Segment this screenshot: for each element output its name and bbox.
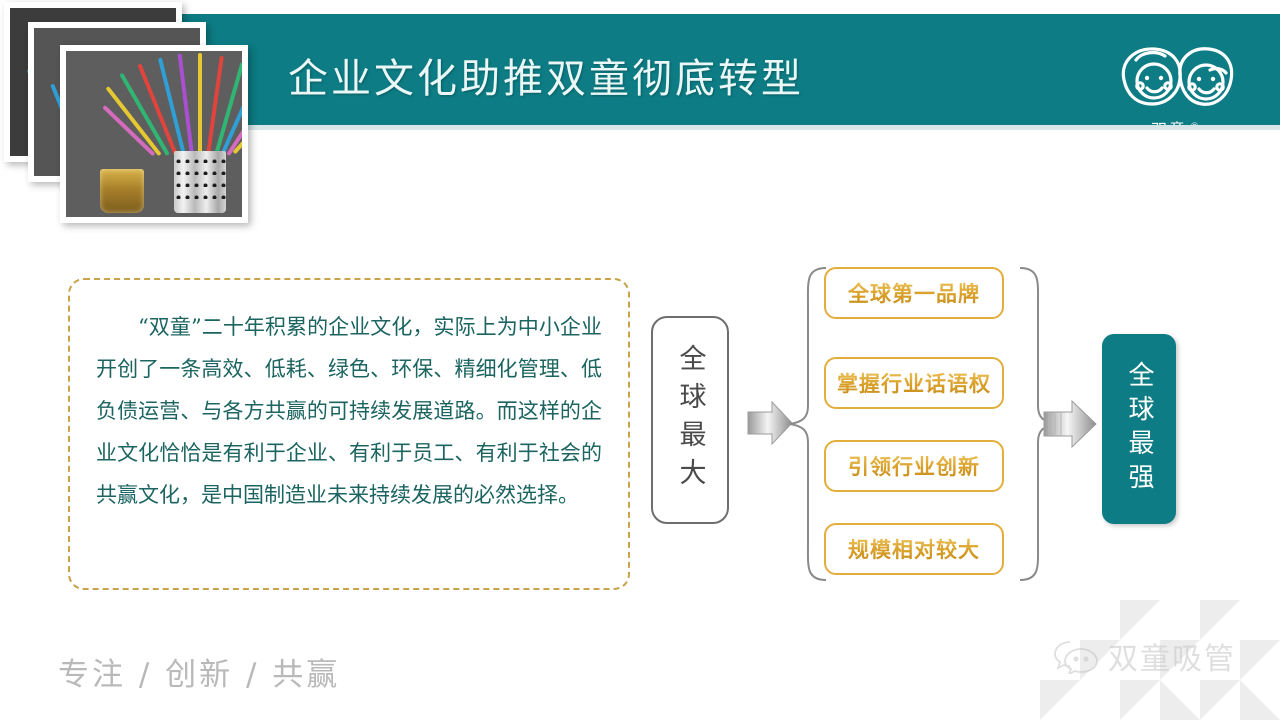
diagram-source-label: 全球最大 [677, 344, 704, 496]
footer-watermark: 双童吸管 [970, 600, 1280, 722]
diagram-item-label-4: 规模相对较大 [848, 534, 980, 564]
diagram-target-label: 全球最强 [1126, 361, 1152, 497]
diagram-item-label-1: 全球第一品牌 [848, 278, 980, 308]
diagram-item-box-3[interactable]: 引领行业创新 [824, 440, 1004, 492]
body-paragraph: “双童”二十年积累的企业文化，实际上为中小企业开创了一条高效、低耗、绿色、环保、… [96, 306, 602, 516]
page-title: 企业文化助推双童彻底转型 [288, 46, 804, 104]
diagram-source-node[interactable]: 全球最大 [651, 316, 729, 524]
body-text-card: “双童”二十年积累的企业文化，实际上为中小企业开创了一条高效、低耗、绿色、环保、… [68, 278, 630, 590]
header-bar: 企业文化助推双童彻底转型 [180, 14, 1280, 125]
wechat-icon [1054, 638, 1098, 674]
diagram-item-box-4[interactable]: 规模相对较大 [824, 523, 1004, 575]
diagram-item-box-2[interactable]: 掌握行业话语权 [824, 357, 1004, 409]
diagram-item-label-3: 引领行业创新 [848, 451, 980, 481]
watermark-row: 双童吸管 [1054, 634, 1236, 678]
footer-slogan: 专注 / 创新 / 共赢 [58, 649, 340, 694]
watermark-text: 双童吸管 [1108, 634, 1236, 678]
two-children-faces-logo-icon [1110, 40, 1242, 124]
diagram-item-box-1[interactable]: 全球第一品牌 [824, 267, 1004, 319]
header-underline [180, 125, 1280, 130]
diagram-target-node[interactable]: 全球最强 [1102, 334, 1176, 524]
photo-stack-front [60, 45, 248, 223]
arrow-group-to-target-icon [1042, 398, 1104, 450]
slide-canvas: 企业文化助推双童彻底转型 [0, 0, 1280, 722]
diagram-item-label-2: 掌握行业话语权 [837, 368, 991, 398]
